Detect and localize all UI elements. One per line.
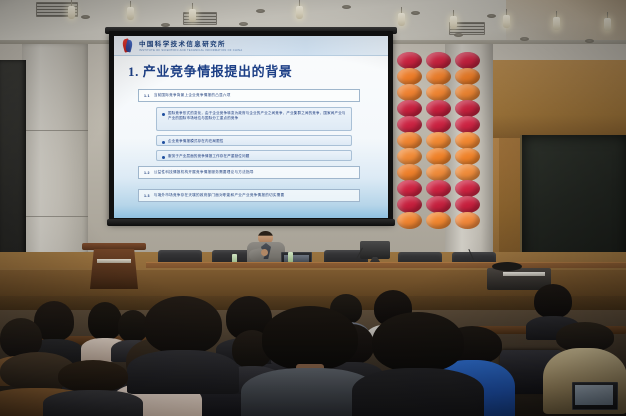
institute-logo-icon: [120, 39, 135, 53]
equipment-cables: [492, 262, 522, 271]
slide-section-box: 1.2 公益性科技情报机构开展竞争情报服务需要理论与方法指导: [138, 166, 360, 179]
recessed-spot-icon: [256, 9, 265, 13]
recessed-spot-icon: [239, 22, 248, 26]
audience-person: [262, 306, 358, 416]
person-hair: [372, 312, 464, 372]
lectern: [86, 243, 142, 289]
balloon-column: [397, 52, 422, 228]
section-text: 当前国际竞争背景上企业竞争情报的凸显六项: [154, 93, 231, 98]
presentation-slide: 中国科学技术信息研究所 INSTITUTE OF SCIENTIFIC AND …: [114, 36, 388, 218]
screen-bottom-bar: [107, 219, 395, 226]
presenter-hand: [261, 249, 268, 256]
slide-bullet-box: 企业竞争情报模式存在内在局限性: [156, 135, 352, 146]
person-hair: [88, 302, 122, 340]
section-number: 1.3: [144, 194, 150, 198]
audience-person: [58, 360, 128, 416]
section-text: 公益性科技情报机构开展竞争情报服务需要理论与方法指导: [154, 170, 254, 175]
audience-person: [372, 312, 464, 416]
person-shoulders: [43, 390, 144, 416]
equipment-white-panel: [503, 272, 545, 276]
recessed-spot-icon: [487, 14, 496, 18]
audience-laptop: [572, 382, 618, 412]
recessed-spot-icon: [81, 15, 90, 19]
section-number: 1.1: [144, 94, 150, 98]
recessed-spot-icon: [585, 39, 594, 43]
person-hair: [58, 360, 128, 392]
projection-screen: 中国科学技术信息研究所 INSTITUTE OF SCIENTIFIC AND …: [109, 31, 393, 223]
person-shoulders: [127, 350, 239, 394]
recessed-spot-icon: [411, 11, 420, 15]
balloon-column: [455, 52, 480, 228]
organization-name-english: INSTITUTE OF SCIENTIFIC AND TECHNICAL IN…: [139, 49, 242, 52]
recessed-spot-icon: [520, 37, 529, 41]
slide-title: 1. 产业竞争情报提出的背景: [128, 61, 292, 80]
recessed-spot-icon: [342, 5, 351, 9]
balloon-decoration: [397, 52, 481, 244]
person-hair: [262, 306, 358, 370]
slide-section-box: 1.3 与境外市场竞争存在天壤的政府部门面对职能和产业产业竞争情报的切实需要: [138, 189, 360, 202]
slide-header-band: 中国科学技术信息研究所 INSTITUTE OF SCIENTIFIC AND …: [114, 36, 388, 56]
person-shoulders: [352, 368, 484, 416]
slide-section-box: 1.1 当前国际竞争背景上企业竞争情报的凸显六项: [138, 89, 360, 102]
photo-scene: 中国科学技术信息研究所 INSTITUTE OF SCIENTIFIC AND …: [0, 0, 626, 416]
slide-bullet-box: 服务于产业层面的竞争情报工作存在严重缺位问题: [156, 150, 352, 161]
person-hair: [144, 296, 222, 354]
audience-person: [144, 296, 222, 388]
slide-bullet-box: 国际竞争形式的变化，由于企业竞争转变为政府与企业的产业之间竞争、产业集群之间的竞…: [156, 107, 352, 131]
right-upper-wood-band: [493, 60, 626, 138]
av-equipment: [360, 241, 390, 259]
section-number: 1.2: [144, 171, 150, 175]
person-hair: [534, 284, 572, 318]
recessed-spot-icon: [454, 33, 463, 37]
balloon-column: [426, 52, 451, 228]
section-text: 与境外市场竞争存在天壤的政府部门面对职能和产业产业竞争情报的切实需要: [154, 193, 285, 198]
organization-name: 中国科学技术信息研究所: [139, 42, 226, 49]
